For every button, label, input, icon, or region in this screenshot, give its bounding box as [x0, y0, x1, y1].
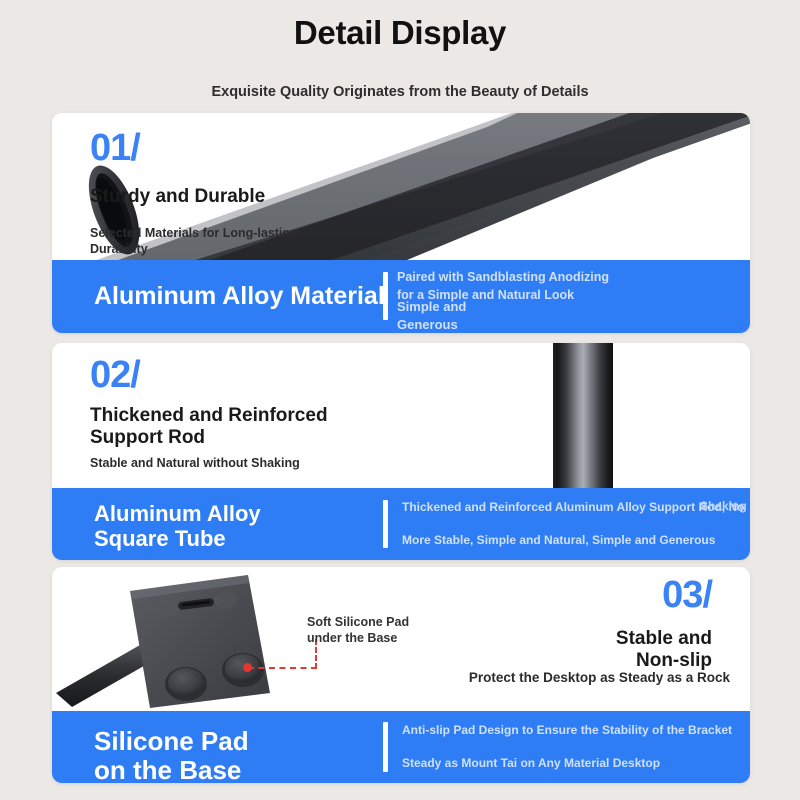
- card-title: Sturdy and Durable: [90, 186, 265, 208]
- feature-banner-3: Silicone Pad on the Base Anti-slip Pad D…: [52, 711, 750, 783]
- page-title: Detail Display: [0, 14, 800, 52]
- annotation-label: Soft Silicone Pad under the Base: [307, 615, 409, 646]
- banner-title: Silicone Pad on the Base: [94, 727, 249, 783]
- card-title: Thickened and Reinforced Support Rod: [90, 405, 328, 450]
- card-number-badge: 03/: [662, 576, 712, 614]
- banner-description: Anti-slip Pad Design to Ensure the Stabi…: [402, 722, 732, 773]
- page-header: Detail Display Exquisite Quality Origina…: [0, 0, 800, 110]
- banner-line: Paired with Sandblasting Anodizing: [397, 268, 609, 286]
- banner-title: Aluminum Alloy Material: [94, 282, 385, 310]
- card-number-badge: 01/: [90, 129, 140, 167]
- banner-divider: [383, 722, 388, 772]
- banner-line: More Stable, Simple and Natural, Simple …: [402, 532, 744, 549]
- banner-title: Aluminum Alloy Square Tube: [94, 502, 261, 551]
- card-number-badge: 02/: [90, 356, 140, 394]
- card-subtitle: Stable and Natural without Shaking: [90, 456, 300, 472]
- feature-banner-2: Aluminum Alloy Square Tube Thickened and…: [52, 488, 750, 560]
- banner-divider: [383, 500, 388, 548]
- card-title: Stable and Non-slip: [616, 628, 712, 673]
- feature-banner-1: Aluminum Alloy Material Paired with Sand…: [52, 260, 750, 333]
- banner-overlap-text: Simple and Generous: [397, 298, 466, 333]
- support-rod-illustration: [553, 343, 613, 488]
- card-subtitle: Selected Materials for Long-lasting Dura…: [90, 226, 298, 257]
- banner-divider: [383, 272, 388, 320]
- annotation-leader-horizontal: [248, 667, 317, 669]
- banner-overflow-text: Shaking: [700, 499, 747, 513]
- banner-line: Anti-slip Pad Design to Ensure the Stabi…: [402, 722, 732, 739]
- card-subtitle: Protect the Desktop as Steady as a Rock: [469, 670, 730, 687]
- banner-line: Steady as Mount Tai on Any Material Desk…: [402, 755, 732, 772]
- page-subtitle: Exquisite Quality Originates from the Be…: [0, 84, 800, 100]
- banner-description: Thickened and Reinforced Aluminum Alloy …: [402, 499, 744, 550]
- banner-line: Thickened and Reinforced Aluminum Alloy …: [402, 499, 744, 516]
